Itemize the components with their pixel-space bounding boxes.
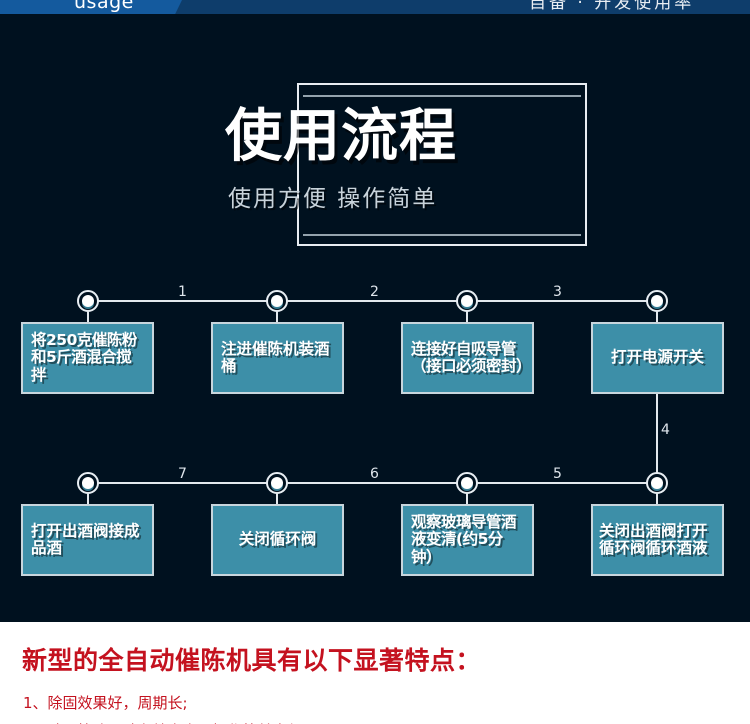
flow-node-5 (646, 472, 668, 494)
step-box-5-label: 关闭出酒阀打开循环阀循环酒液 (599, 523, 716, 558)
step-box-1[interactable]: 将250克催陈粉和5斤酒混合搅拌 (21, 322, 154, 394)
title-frame-top-rule (303, 95, 581, 97)
connector-label-5: 5 (553, 466, 562, 482)
flow-node-8 (77, 472, 99, 494)
top-banner: usage 自备 · 开发使用率 (0, 0, 750, 14)
connector-label-4: 4 (661, 422, 670, 438)
connector-label-1: 1 (178, 284, 187, 300)
step-box-3-label: 连接好自吸导管（接口必须密封） (411, 341, 524, 376)
banner-chinese-label: 自备 · 开发使用率 (529, 0, 694, 13)
step-box-3[interactable]: 连接好自吸导管（接口必须密封） (401, 322, 534, 394)
step-box-2[interactable]: 注进催陈机装酒桶 (211, 322, 344, 394)
features-heading: 新型的全自动催陈机具有以下显著特点： (22, 641, 481, 677)
page-title: 使用流程 (225, 108, 457, 165)
features-section: 新型的全自动催陈机具有以下显著特点： 1、除固效果好，周期长; 2、除固快速、除… (0, 622, 750, 724)
flow-line-row1 (88, 300, 658, 302)
step-box-1-label: 将250克催陈粉和5斤酒混合搅拌 (31, 332, 144, 384)
connector-label-3: 3 (553, 284, 562, 300)
feature-item-2: 2、除固快速、除杂效率高、操作简单方便; (23, 720, 308, 724)
flow-node-2 (266, 290, 288, 312)
flow-node-4 (646, 290, 668, 312)
step-box-6[interactable]: 观察玻璃导管酒液变清(约5分钟） (401, 504, 534, 576)
flow-node-7 (266, 472, 288, 494)
usage-flow-section: usage 自备 · 开发使用率 使用流程 使用方便 操作简单 1 2 3 将2… (0, 0, 750, 622)
page-subtitle: 使用方便 操作简单 (228, 179, 437, 213)
step-box-7-label: 关闭循环阀 (239, 531, 317, 548)
step-box-7[interactable]: 关闭循环阀 (211, 504, 344, 576)
step-box-2-label: 注进催陈机装酒桶 (221, 341, 334, 376)
connector-label-2: 2 (370, 284, 379, 300)
flow-node-3 (456, 290, 478, 312)
step-box-5[interactable]: 关闭出酒阀打开循环阀循环酒液 (591, 504, 724, 576)
feature-item-1: 1、除固效果好，周期长; (23, 692, 188, 713)
connector-label-7: 7 (178, 466, 187, 482)
banner-usage-label: usage (74, 0, 134, 13)
flow-node-1 (77, 290, 99, 312)
step-box-8-label: 打开出酒阀接成品酒 (31, 523, 144, 558)
flow-line-row2 (88, 482, 658, 484)
title-frame-bottom-rule (303, 234, 581, 236)
step-box-6-label: 观察玻璃导管酒液变清(约5分钟） (411, 514, 524, 566)
connector-label-6: 6 (370, 466, 379, 482)
step-box-4[interactable]: 打开电源开关 (591, 322, 724, 394)
flow-node-6 (456, 472, 478, 494)
step-box-4-label: 打开电源开关 (611, 349, 704, 366)
page-root: usage 自备 · 开发使用率 使用流程 使用方便 操作简单 1 2 3 将2… (0, 0, 750, 724)
step-box-8[interactable]: 打开出酒阀接成品酒 (21, 504, 154, 576)
